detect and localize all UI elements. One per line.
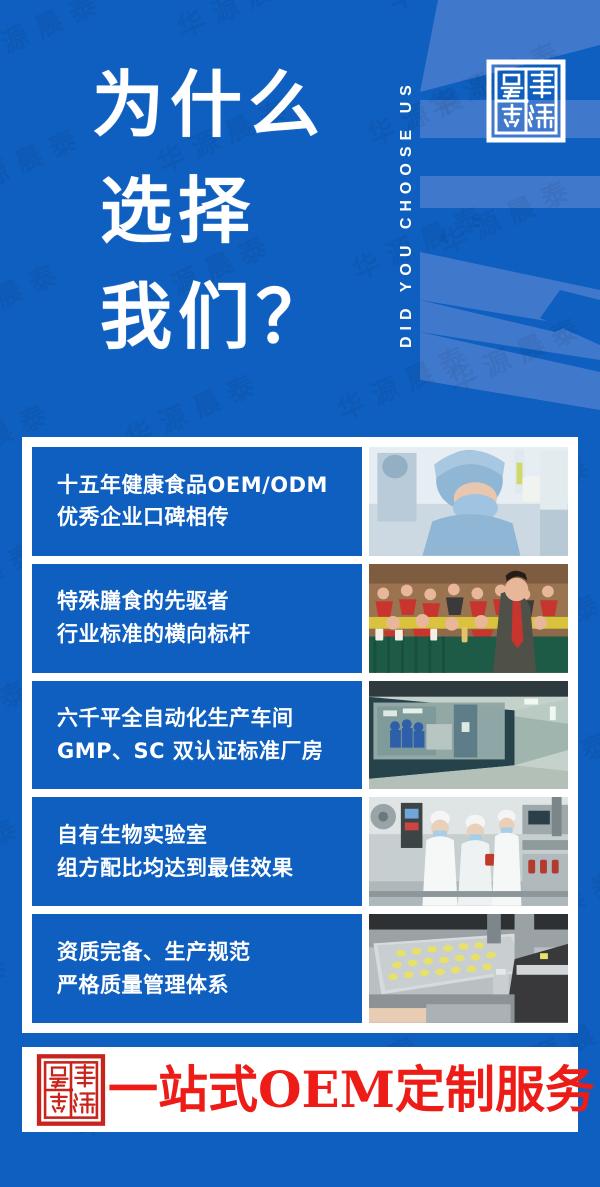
production-line-workers-photo [369, 797, 568, 906]
poster-root: 华源晨泰 华源晨泰 华源晨泰 华源晨泰 华源晨泰 华源晨泰 华源晨泰 华源晨泰 … [0, 0, 600, 1187]
feature-card-image [369, 914, 568, 1023]
feature-line-1: 十五年健康食品OEM/ODM [57, 472, 362, 499]
feature-card: 十五年健康食品OEM/ODM 优秀企业口碑相传 [32, 447, 568, 556]
feature-line-2: 优秀企业口碑相传 [57, 504, 362, 531]
feature-line-1: 特殊膳食的先驱者 [57, 588, 362, 615]
feature-card-image [369, 681, 568, 790]
title-line-1: 为什么 [92, 52, 392, 158]
feature-card-image [369, 797, 568, 906]
hero-section: 为什么 选择 我们？ DID YOU CHOOSE US [0, 0, 600, 437]
feature-line-2: 组方配比均达到最佳效果 [57, 855, 362, 882]
feature-card: 自有生物实验室 组方配比均达到最佳效果 [32, 797, 568, 906]
tablet-packaging-machine-photo [369, 914, 568, 1023]
page-title: 为什么 选择 我们？ [92, 52, 392, 370]
feature-card-panel: 十五年健康食品OEM/ODM 优秀企业口碑相传 [22, 437, 578, 1033]
conference-audience-photo [369, 564, 568, 673]
banner-slogan: 一站式OEM定制服务 [108, 1065, 595, 1115]
feature-line-2: 严格质量管理体系 [57, 972, 362, 999]
watermark-text: 华源晨泰 [0, 942, 21, 1038]
feature-card-text: 资质完备、生产规范 严格质量管理体系 [32, 914, 362, 1023]
lab-technician-photo [369, 447, 568, 556]
bottom-banner: 一站式OEM定制服务 [22, 1047, 578, 1132]
watermark-text: 华源晨泰 [0, 1080, 11, 1176]
title-line-2: 选择 [92, 158, 392, 264]
feature-card: 特殊膳食的先驱者 行业标准的横向标杆 [32, 564, 568, 673]
feature-card: 资质完备、生产规范 严格质量管理体系 [32, 914, 568, 1023]
feature-line-2: GMP、SC 双认证标准厂房 [57, 738, 362, 765]
feature-line-2: 行业标准的横向标杆 [57, 621, 362, 648]
feature-card-text: 十五年健康食品OEM/ODM 优秀企业口碑相传 [32, 447, 362, 556]
feature-card-image [369, 447, 568, 556]
feature-card-text: 六千平全自动化生产车间 GMP、SC 双认证标准厂房 [32, 681, 362, 790]
feature-card: 六千平全自动化生产车间 GMP、SC 双认证标准厂房 [32, 681, 568, 790]
feature-card-text: 自有生物实验室 组方配比均达到最佳效果 [32, 797, 362, 906]
cleanroom-corridor-photo [369, 681, 568, 790]
company-seal-red-icon [34, 1052, 108, 1128]
feature-card-image [369, 564, 568, 673]
company-seal-icon [484, 57, 568, 145]
feature-card-text: 特殊膳食的先驱者 行业标准的横向标杆 [32, 564, 362, 673]
feature-line-1: 资质完备、生产规范 [57, 939, 362, 966]
feature-line-1: 自有生物实验室 [57, 822, 362, 849]
vertical-subtitle: DID YOU CHOOSE US [398, 14, 424, 414]
feature-line-1: 六千平全自动化生产车间 [57, 705, 362, 732]
title-line-3: 我们？ [92, 264, 392, 370]
